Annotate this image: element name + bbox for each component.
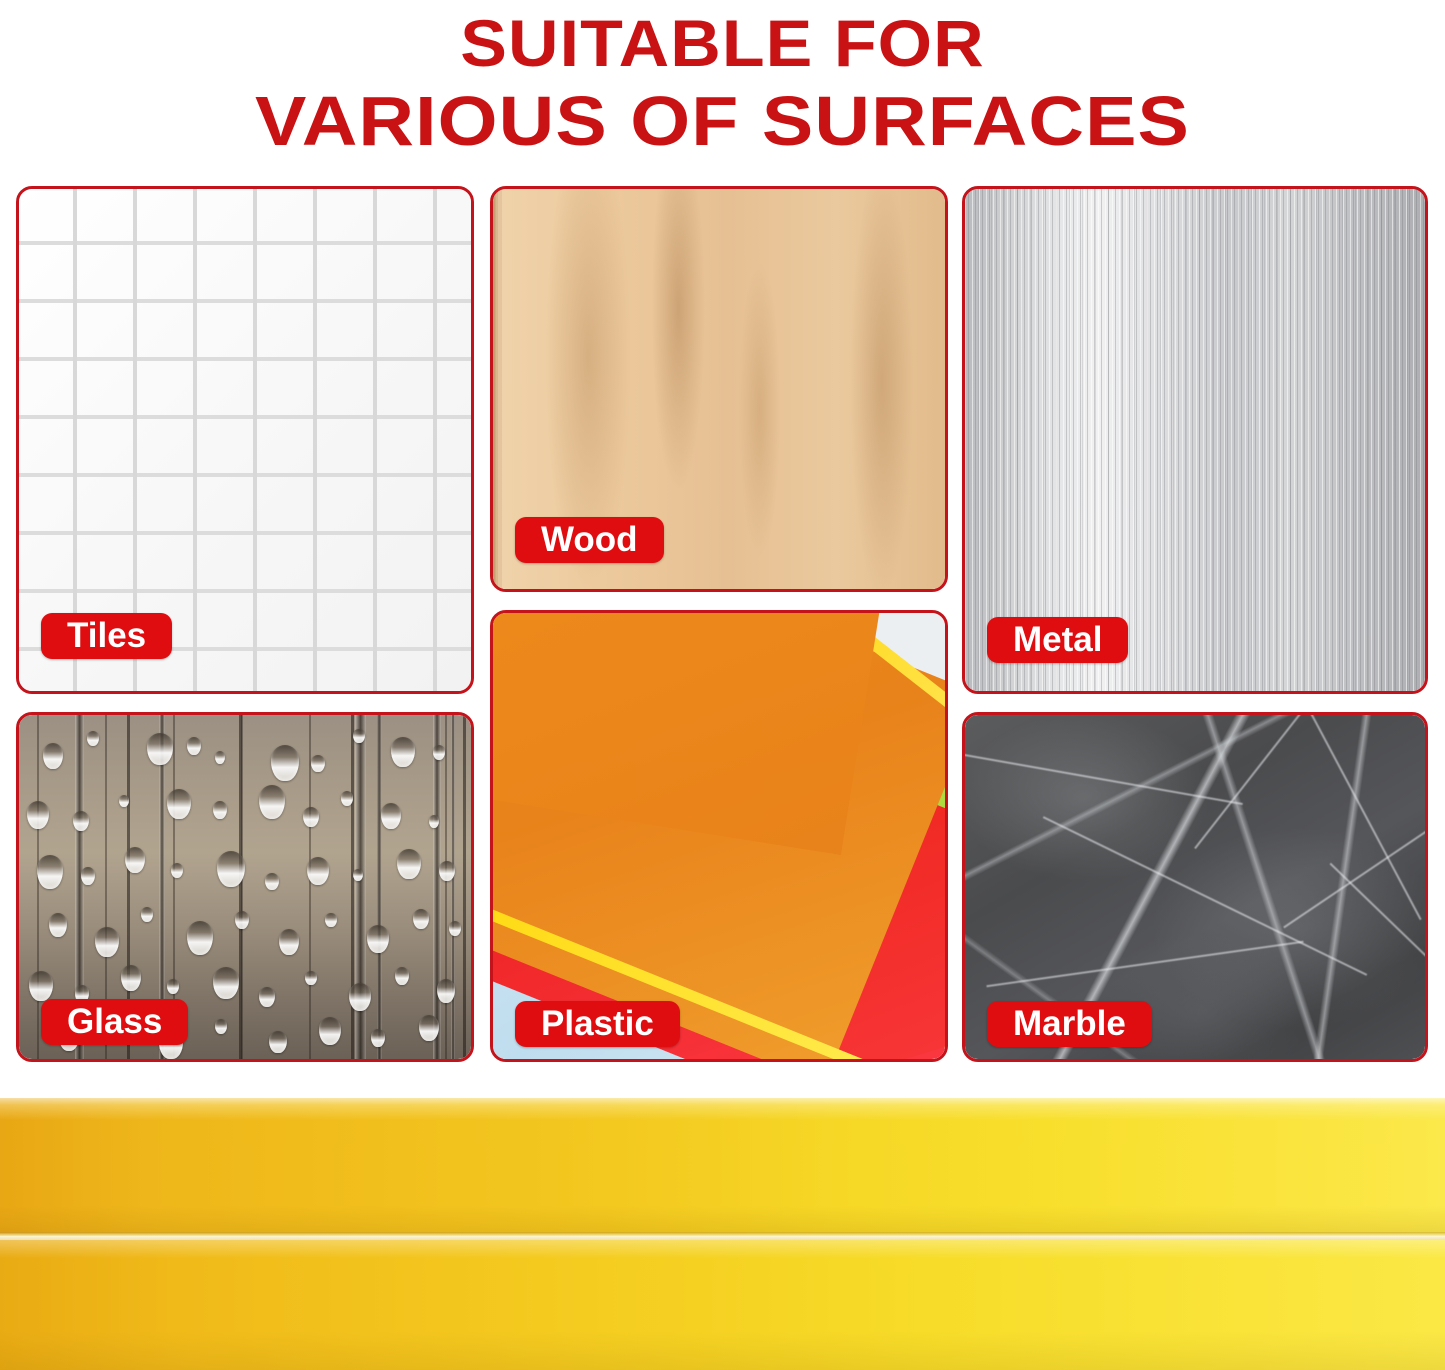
water-droplet — [167, 979, 179, 994]
water-droplet — [43, 743, 63, 769]
marble-vein — [1194, 715, 1356, 849]
water-droplet — [307, 857, 329, 885]
surface-label-tiles: Tiles — [41, 613, 172, 659]
headline-line-2: VARIOUS OF SURFACES — [0, 82, 1445, 160]
yellow-squeegee-tool — [0, 1098, 1445, 1370]
water-droplet — [187, 921, 213, 955]
water-droplet — [167, 789, 191, 819]
metal-texture — [965, 189, 1425, 691]
water-droplet — [213, 801, 227, 819]
marble-vein — [1283, 804, 1425, 929]
tool-seam-line — [0, 1232, 1445, 1240]
water-droplet — [121, 965, 141, 991]
water-droplet — [235, 911, 249, 929]
water-droplet — [141, 907, 153, 922]
marble-vein — [986, 941, 1303, 988]
surface-label-plastic: Plastic — [515, 1001, 680, 1047]
water-droplet — [171, 863, 183, 878]
water-droplet — [311, 755, 325, 772]
water-droplet — [381, 803, 401, 829]
product-infographic: SUITABLE FOR VARIOUS OF SURFACES Tiles W… — [0, 0, 1445, 1370]
page-title: SUITABLE FOR VARIOUS OF SURFACES — [0, 0, 1445, 168]
water-droplet — [213, 967, 239, 999]
water-droplet — [395, 967, 409, 985]
water-droplet — [217, 851, 245, 887]
water-droplet — [341, 791, 353, 806]
water-droplet — [349, 983, 371, 1011]
surface-card-tiles: Tiles — [16, 186, 474, 694]
glass-streak — [433, 715, 441, 1059]
marble-vein — [1330, 863, 1425, 989]
surface-label-glass: Glass — [41, 999, 188, 1045]
water-droplet — [371, 1029, 385, 1047]
water-droplet — [147, 733, 173, 765]
water-droplet — [449, 921, 461, 936]
water-droplet — [259, 785, 285, 819]
water-droplet — [269, 1031, 287, 1053]
water-droplet — [353, 869, 363, 881]
water-droplet — [27, 801, 49, 829]
water-droplet — [125, 847, 145, 873]
water-droplet — [29, 971, 53, 1001]
glass-streak — [451, 715, 455, 1059]
water-droplet — [429, 815, 439, 828]
surface-card-marble: Marble — [962, 712, 1428, 1062]
water-droplet — [419, 1015, 439, 1041]
water-droplet — [397, 849, 421, 879]
surface-card-glass: Glass — [16, 712, 474, 1062]
water-droplet — [119, 795, 129, 807]
water-droplet — [391, 737, 415, 767]
water-droplet — [439, 861, 455, 881]
water-droplet — [413, 909, 429, 929]
water-droplet — [265, 873, 279, 890]
water-droplet — [353, 729, 365, 743]
water-droplet — [271, 745, 299, 781]
water-droplet — [81, 867, 95, 885]
water-droplet — [303, 807, 319, 827]
water-droplet — [215, 751, 225, 764]
water-droplet — [305, 971, 317, 985]
water-droplet — [37, 855, 63, 889]
water-droplet — [215, 1019, 227, 1034]
glass-streak — [377, 715, 382, 1059]
surface-card-wood: Wood — [490, 186, 948, 592]
marble-vein — [965, 751, 1243, 805]
water-droplet — [95, 927, 119, 957]
water-droplet — [279, 929, 299, 955]
water-droplet — [73, 811, 89, 831]
marble-vein — [1043, 816, 1367, 976]
water-droplet — [259, 987, 275, 1007]
surface-label-marble: Marble — [987, 1001, 1152, 1047]
plastic-texture — [493, 613, 945, 1059]
water-droplet — [437, 979, 455, 1003]
tool-lower-face — [0, 1240, 1445, 1370]
surface-label-wood: Wood — [515, 517, 664, 563]
surface-card-plastic: Plastic — [490, 610, 948, 1062]
water-droplet — [325, 913, 337, 927]
tool-upper-face — [0, 1098, 1445, 1236]
water-droplet — [87, 731, 99, 746]
marble-vein — [1288, 715, 1421, 920]
water-droplet — [49, 913, 67, 937]
water-droplet — [433, 745, 445, 760]
water-droplet — [367, 925, 389, 953]
headline-line-1: SUITABLE FOR — [0, 4, 1445, 82]
water-droplet — [187, 737, 201, 755]
surface-card-metal: Metal — [962, 186, 1428, 694]
surface-label-metal: Metal — [987, 617, 1128, 663]
water-droplet — [319, 1017, 341, 1045]
